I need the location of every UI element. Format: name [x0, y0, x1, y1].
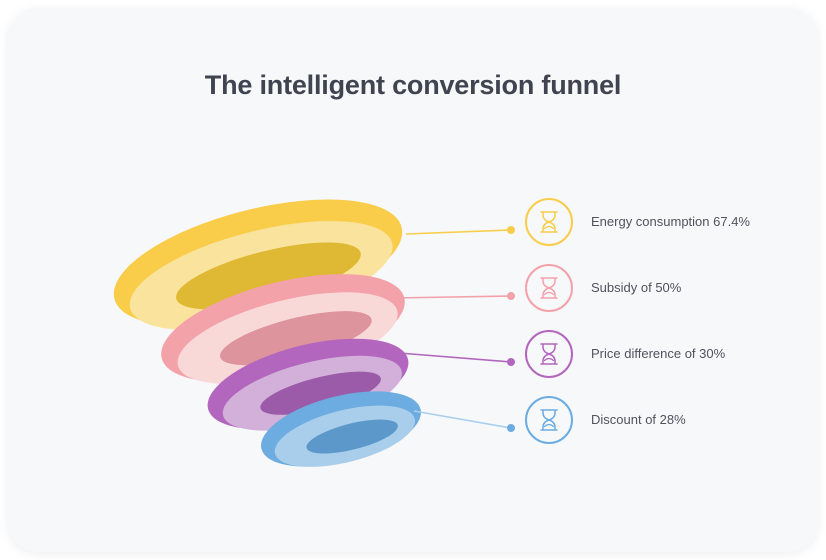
connector-line-discount — [414, 411, 511, 428]
hourglass-icon — [525, 198, 573, 246]
legend-item-label: Discount of 28% — [591, 412, 686, 427]
hourglass-icon — [525, 264, 573, 312]
legend-item-label: Subsidy of 50% — [591, 280, 681, 295]
legend-item-label: Energy consumption 67.4% — [591, 214, 750, 229]
legend-item-label: Price difference of 30% — [591, 346, 725, 361]
hourglass-glyph — [537, 407, 561, 433]
hourglass-glyph — [537, 275, 561, 301]
connector-line-energy-consumption — [406, 230, 511, 234]
connector-dot-subsidy — [507, 292, 515, 300]
connector-dot-discount — [507, 424, 515, 432]
connector-line-price-difference — [399, 353, 511, 362]
legend-item-discount[interactable]: Discount of 28% — [525, 396, 815, 462]
infographic-card: The intelligent conversion funnel — [8, 8, 818, 552]
hourglass-icon — [525, 396, 573, 444]
hourglass-icon — [525, 330, 573, 378]
legend-list: Energy consumption 67.4% Subsidy of 50% — [525, 198, 815, 462]
legend-item-price-difference[interactable]: Price difference of 30% — [525, 330, 815, 396]
legend-item-energy-consumption[interactable]: Energy consumption 67.4% — [525, 198, 815, 264]
hourglass-glyph — [537, 209, 561, 235]
connector-dot-price-difference — [507, 358, 515, 366]
legend-item-subsidy[interactable]: Subsidy of 50% — [525, 264, 815, 330]
connector-line-subsidy — [393, 296, 511, 298]
hourglass-glyph — [537, 341, 561, 367]
connector-dot-energy-consumption — [507, 226, 515, 234]
